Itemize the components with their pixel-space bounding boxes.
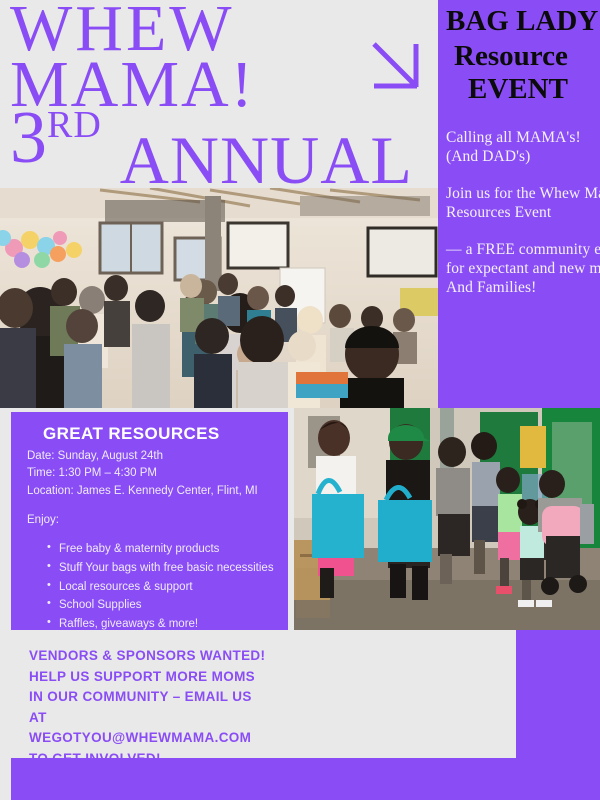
bottom-purple-bar: [11, 758, 600, 800]
resources-date: Date: Sunday, August 24th: [27, 448, 274, 465]
resources-panel: GREAT RESOURCES Date: Sunday, August 24t…: [11, 412, 288, 630]
panel-join-text: Join us for the Whew Mama! Resources Eve…: [446, 185, 600, 223]
list-item: Local resources & support: [47, 578, 274, 597]
panel-free-community-text: — a FREE community event for expectant a…: [446, 241, 600, 298]
list-item: Free baby & maternity products: [47, 540, 274, 559]
resources-heading: GREAT RESOURCES: [43, 424, 274, 444]
arrow-down-right-icon: [368, 38, 424, 99]
resources-location: Location: James E. Kennedy Center, Flint…: [27, 483, 274, 500]
event-info-panel: BAG LADY Resource EVENT Calling all MAMA…: [438, 0, 600, 408]
panel-calling-text: Calling all MAMA's! (And DAD's): [446, 129, 600, 167]
panel-heading-event: EVENT: [468, 74, 600, 105]
title-line-annual: ANNUAL: [120, 126, 413, 188]
title-ordinal-number: 3: [10, 104, 47, 172]
list-item: Raffles, giveaways & more!: [47, 615, 274, 630]
title-annual-row: 3 RD ANNUAL: [10, 104, 413, 188]
resources-enjoy-label: Enjoy:: [27, 514, 274, 526]
vendors-sponsors-block: VENDORS & SPONSORS WANTED! HELP US SUPPO…: [11, 634, 516, 758]
right-purple-strip: [516, 630, 600, 760]
photo-tote-bag-line: [294, 408, 600, 630]
list-item: School Supplies: [47, 596, 274, 615]
resources-time: Time: 1:30 PM – 4:30 PM: [27, 465, 274, 482]
title-block: WHEW MAMA! 3 RD ANNUAL: [0, 0, 440, 188]
vendors-sponsors-text: VENDORS & SPONSORS WANTED! HELP US SUPPO…: [29, 646, 516, 769]
photo-event-hall: [0, 188, 438, 408]
panel-heading-bag-lady: BAG LADY: [446, 6, 600, 37]
list-item: Stuff Your bags with free basic necessit…: [47, 559, 274, 578]
title-ordinal-suffix: RD: [47, 106, 102, 144]
panel-heading-resource: Resource: [454, 41, 600, 72]
resources-list: Free baby & maternity products Stuff You…: [47, 540, 274, 630]
